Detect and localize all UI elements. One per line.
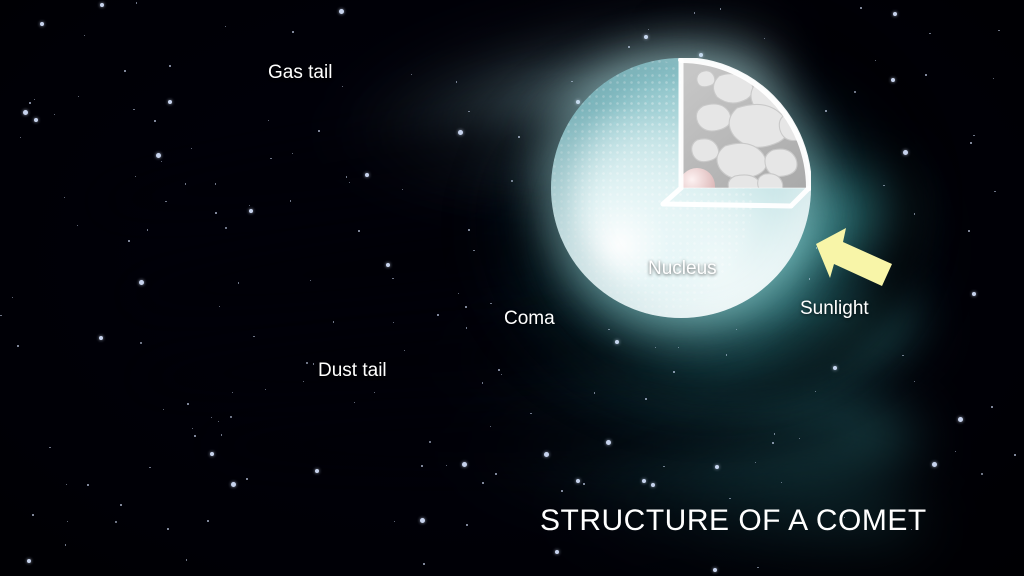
star (268, 120, 269, 121)
star (891, 78, 895, 82)
star (466, 327, 467, 328)
star (583, 483, 585, 485)
star (490, 303, 491, 304)
star (77, 225, 78, 226)
star (246, 478, 248, 480)
star (207, 520, 209, 522)
cutaway-right-edge (791, 188, 809, 206)
sunlight-arrow-icon (812, 222, 902, 292)
star (23, 110, 28, 115)
star (354, 402, 355, 403)
star (932, 462, 937, 467)
star (544, 452, 549, 457)
star (955, 451, 956, 452)
star (225, 227, 226, 228)
star (167, 528, 169, 530)
star (194, 435, 196, 437)
star (128, 240, 130, 242)
nucleus-label: Nucleus (648, 258, 717, 280)
coma-label: Coma (504, 308, 555, 330)
star (154, 120, 156, 122)
star (781, 482, 782, 483)
star (386, 263, 390, 267)
gas-tail-label: Gas tail (268, 62, 332, 84)
star (306, 362, 307, 363)
comet-diagram-canvas: Ice Gas tail Coma Dust tail Nucleus Sunl… (0, 0, 1024, 576)
star (482, 482, 484, 484)
star (715, 465, 719, 469)
star (468, 229, 470, 231)
star (729, 498, 730, 499)
star (32, 514, 34, 516)
star (29, 102, 31, 104)
star (875, 60, 876, 61)
star (12, 297, 13, 298)
star (100, 3, 104, 7)
star (265, 389, 266, 390)
star (136, 2, 137, 3)
star (757, 567, 758, 568)
star (393, 322, 394, 323)
star (663, 466, 664, 467)
cutaway-bottom-edge (663, 204, 791, 206)
star (115, 521, 116, 522)
star (429, 441, 430, 442)
star (318, 130, 320, 132)
star (342, 86, 343, 87)
star (135, 176, 136, 177)
star (402, 189, 403, 190)
star (249, 209, 253, 213)
star (290, 200, 291, 201)
star (437, 314, 439, 316)
star (893, 12, 897, 16)
star (339, 9, 344, 14)
star (473, 250, 474, 251)
star (392, 278, 393, 279)
star (465, 306, 467, 308)
star (65, 544, 66, 545)
star (594, 392, 595, 393)
star (66, 484, 67, 485)
star (211, 417, 212, 418)
star (645, 398, 647, 400)
star (333, 321, 334, 322)
star (958, 417, 963, 422)
star (124, 70, 126, 72)
star (133, 109, 134, 110)
star (192, 428, 193, 429)
cutaway-left-edge (663, 60, 681, 204)
star (87, 484, 89, 486)
star (458, 293, 459, 294)
star (303, 381, 304, 382)
star (34, 99, 35, 100)
star (231, 482, 236, 487)
star (815, 391, 816, 392)
star (774, 433, 775, 434)
star (772, 442, 774, 444)
star (394, 521, 395, 522)
star (140, 342, 141, 343)
star (232, 392, 233, 393)
star (993, 78, 994, 79)
star (17, 345, 19, 347)
star (561, 490, 563, 492)
star (420, 518, 425, 523)
star (210, 452, 214, 456)
page-title: STRUCTURE OF A COMET (540, 504, 927, 538)
star (49, 447, 50, 448)
star (215, 212, 217, 214)
star (313, 363, 314, 364)
star (168, 100, 172, 104)
star (466, 524, 468, 526)
ice-chunk-left-face (661, 79, 679, 197)
star (914, 381, 915, 382)
star (161, 161, 162, 162)
star (482, 382, 483, 383)
star (981, 473, 982, 474)
nucleus-core (679, 168, 715, 204)
star (973, 135, 974, 136)
star (156, 153, 161, 158)
sunlight-label: Sunlight (800, 298, 869, 320)
star (902, 355, 903, 356)
star (349, 182, 350, 183)
star (468, 111, 469, 112)
star (606, 440, 611, 445)
star (292, 153, 293, 154)
star (421, 465, 423, 467)
star (120, 504, 122, 506)
star (498, 369, 500, 371)
star (27, 559, 31, 563)
star (219, 306, 220, 307)
star (972, 292, 976, 296)
star (456, 81, 457, 82)
star (187, 403, 189, 405)
star (374, 392, 375, 393)
star (404, 350, 405, 351)
star (186, 559, 187, 560)
star (191, 148, 192, 149)
star (968, 230, 970, 232)
star (34, 118, 38, 122)
star (139, 280, 144, 285)
star (411, 74, 412, 75)
star (238, 282, 239, 283)
star (929, 33, 930, 34)
star (169, 65, 171, 67)
star (185, 183, 186, 184)
star (40, 22, 44, 26)
star (149, 467, 150, 468)
star (651, 483, 655, 487)
dust-tail-label: Dust tail (318, 360, 387, 382)
star (67, 521, 68, 522)
star (998, 30, 999, 31)
star (147, 229, 148, 230)
star (446, 465, 447, 466)
star (99, 336, 103, 340)
star (292, 31, 294, 33)
star (20, 137, 21, 138)
star (64, 197, 65, 198)
star (490, 426, 491, 427)
star (991, 406, 993, 408)
star (225, 26, 226, 27)
star (358, 230, 360, 232)
star (462, 462, 467, 467)
star (458, 130, 463, 135)
star (970, 142, 972, 144)
star (925, 74, 927, 76)
star (713, 568, 717, 572)
star (423, 563, 425, 565)
star (249, 205, 250, 206)
star (84, 35, 85, 36)
star (270, 158, 271, 159)
star (253, 336, 254, 337)
star (78, 96, 79, 97)
star (54, 114, 55, 115)
dust-tail-stream-4 (247, 418, 933, 576)
star (495, 473, 497, 475)
star (230, 416, 231, 417)
star (218, 421, 219, 422)
star (642, 479, 646, 483)
star (346, 176, 347, 177)
star (221, 434, 222, 435)
star (215, 183, 216, 184)
star (799, 438, 800, 439)
star (576, 479, 580, 483)
star (0, 315, 1, 316)
star (315, 469, 319, 473)
tail-dark-lane-3 (200, 412, 861, 470)
star (365, 173, 369, 177)
star (755, 462, 756, 463)
star (860, 7, 862, 9)
star (1014, 454, 1016, 456)
star (163, 409, 164, 410)
star (994, 191, 995, 192)
star (530, 413, 531, 414)
star (555, 550, 559, 554)
star (165, 201, 166, 202)
star (501, 374, 502, 375)
star (310, 280, 311, 281)
